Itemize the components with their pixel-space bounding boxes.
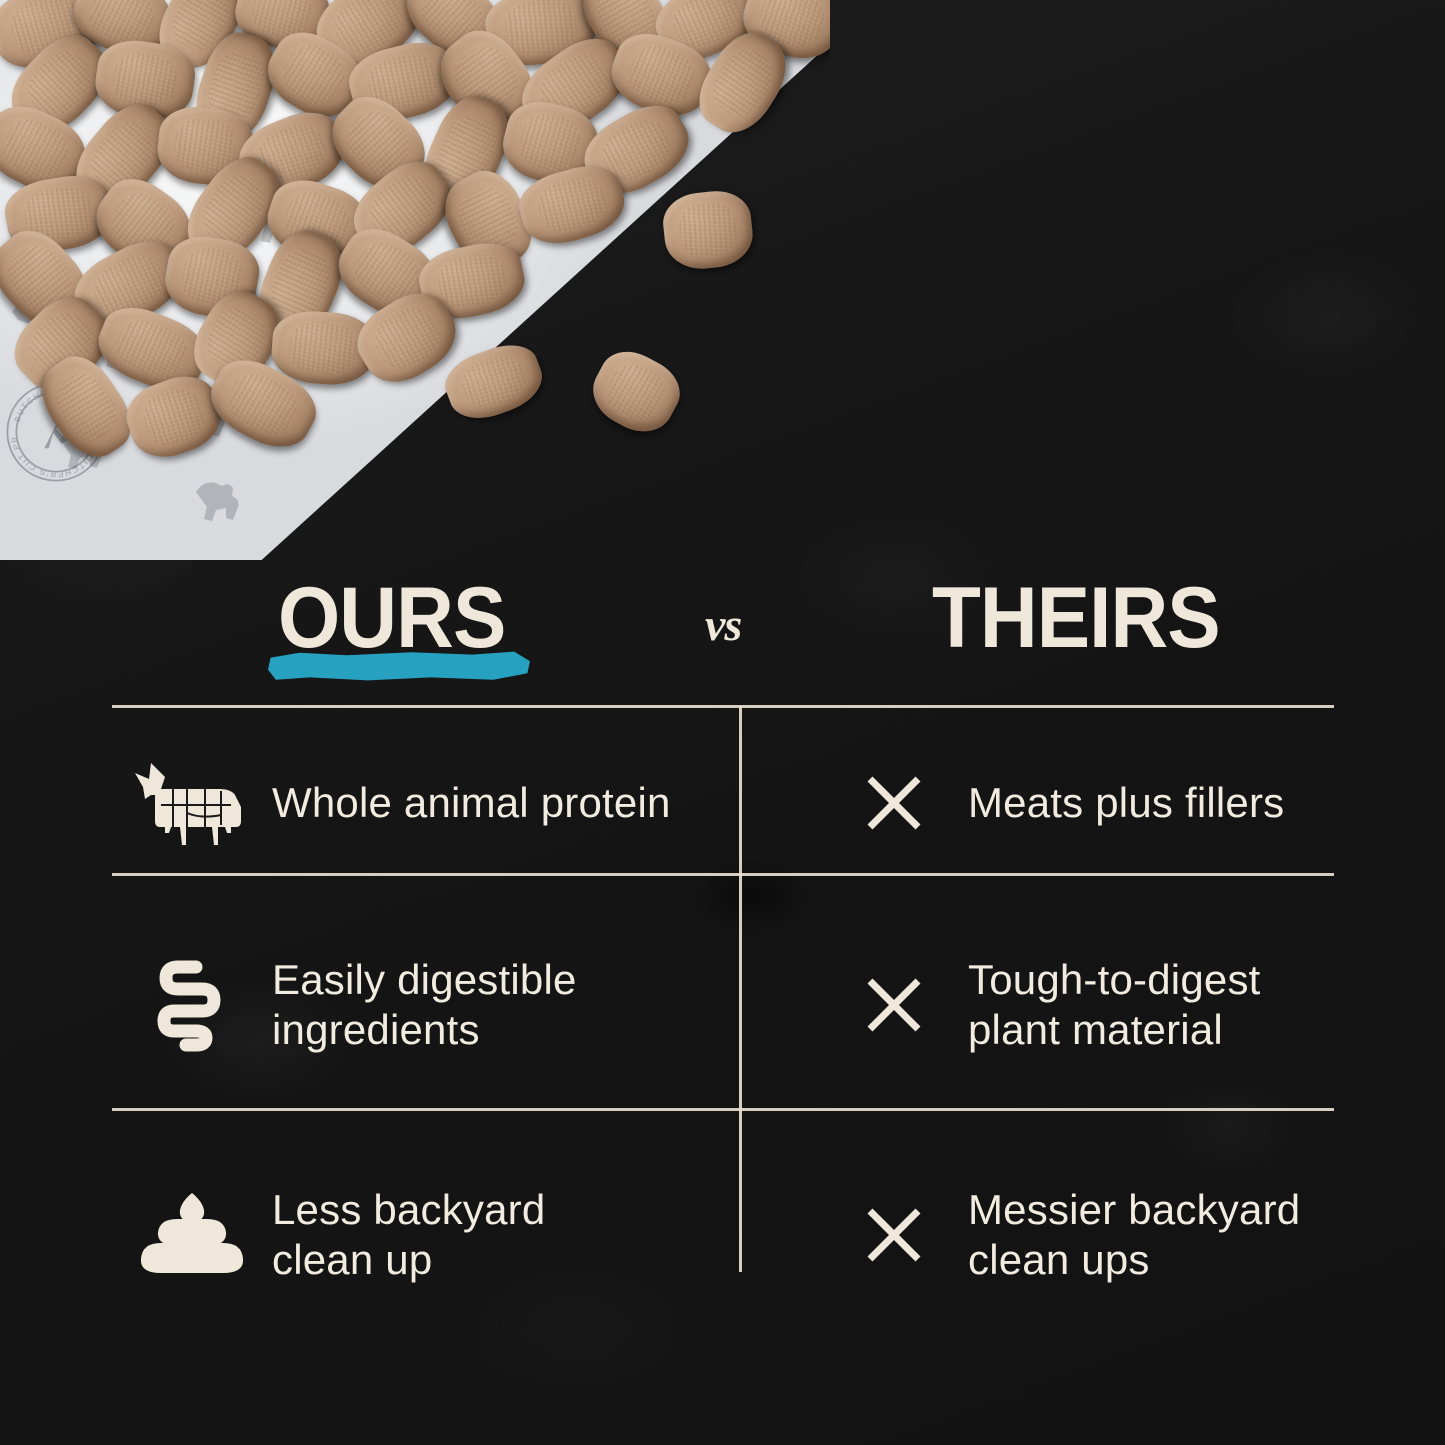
row-label-ours: Whole animal protein bbox=[272, 778, 671, 828]
table-rule-1 bbox=[112, 873, 1334, 876]
row-label-ours-line1: Less backyard bbox=[272, 1185, 545, 1235]
table-row: Messier backyard clean ups bbox=[820, 1150, 1380, 1320]
ours-heading: OURS bbox=[278, 575, 505, 661]
x-mark-icon bbox=[862, 973, 926, 1037]
table-rule-top bbox=[112, 705, 1334, 708]
table-row: Easily digestible ingredients bbox=[112, 920, 732, 1090]
poop-icon bbox=[137, 1187, 247, 1283]
row-label-theirs-line1: Messier backyard bbox=[968, 1185, 1300, 1235]
table-rule-2 bbox=[112, 1108, 1334, 1111]
table-divider-vertical bbox=[739, 706, 742, 1272]
accent-underline-brushstroke bbox=[268, 651, 530, 681]
x-mark-icon bbox=[862, 771, 926, 835]
row-label-ours-line2: ingredients bbox=[272, 1005, 577, 1055]
row-label-ours-line2: clean up bbox=[272, 1235, 545, 1285]
theirs-heading: THEIRS bbox=[932, 575, 1220, 661]
row-label-theirs-line1: Tough-to-digest bbox=[968, 955, 1261, 1005]
x-mark-icon bbox=[862, 1203, 926, 1267]
comparison-infographic: BUTCHER'S CUT PROTEIN BUTCHER'S CUT PROT… bbox=[0, 0, 1445, 1445]
row-label-theirs-line2: clean ups bbox=[968, 1235, 1300, 1285]
table-row: Less backyard clean up bbox=[112, 1150, 732, 1320]
row-label-ours-line1: Easily digestible bbox=[272, 955, 577, 1005]
comparison-table: OURS vs THEIRS bbox=[0, 0, 1445, 1445]
vs-label: vs bbox=[705, 598, 741, 651]
row-label-theirs: Messier backyard clean ups bbox=[968, 1185, 1300, 1284]
cow-butcher-diagram-icon bbox=[129, 755, 255, 851]
row-label-ours: Easily digestible ingredients bbox=[272, 955, 577, 1054]
table-row: Meats plus fillers bbox=[820, 740, 1380, 865]
row-label-theirs: Tough-to-digest plant material bbox=[968, 955, 1261, 1054]
table-row: Tough-to-digest plant material bbox=[820, 920, 1380, 1090]
table-row: Whole animal protein bbox=[112, 740, 732, 865]
row-label-ours: Less backyard clean up bbox=[272, 1185, 545, 1284]
row-label-theirs: Meats plus fillers bbox=[968, 778, 1284, 828]
intestine-digestion-icon bbox=[150, 957, 234, 1053]
row-label-theirs-line2: plant material bbox=[968, 1005, 1261, 1055]
